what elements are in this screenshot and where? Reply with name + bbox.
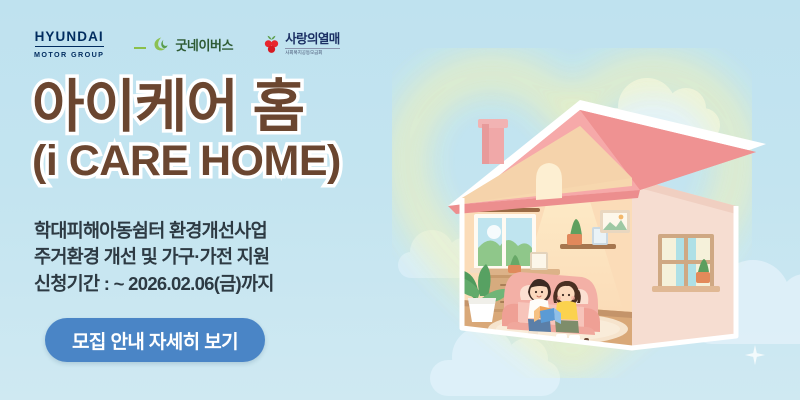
chimney-icon xyxy=(478,119,508,164)
promo-banner: HYUNDAI MOTOR GROUP 굿네이버스 사랑의열매 사회복지공동모금… xyxy=(0,0,800,400)
house-illustration xyxy=(418,86,766,378)
description-line-1: 학대피해아동쉼터 환경개선사업 xyxy=(34,218,274,244)
community-chest-subtext: 사회복지공동모금회 xyxy=(285,48,340,56)
logo-good-neighbors: 굿네이버스 xyxy=(134,35,233,54)
good-neighbors-wordmark: 굿네이버스 xyxy=(175,35,233,54)
description-line-2: 주거환경 개선 및 가구·가전 지원 xyxy=(34,244,274,270)
title-line-korean: 아이케어 홈 xyxy=(32,80,341,136)
page-title: 아이케어 홈 (i CARE HOME) xyxy=(32,80,341,182)
community-chest-wordmark: 사랑의열매 xyxy=(285,33,340,46)
title-line-english: (i CARE HOME) xyxy=(32,140,341,182)
leaf-ampersand-icon xyxy=(151,35,170,54)
logo-hyundai-motor-group: HYUNDAI MOTOR GROUP xyxy=(34,30,104,59)
hyundai-subtext: MOTOR GROUP xyxy=(34,50,104,59)
window-right-icon xyxy=(652,234,720,292)
logo-dash xyxy=(134,47,146,49)
red-fruit-berry-icon xyxy=(263,35,280,54)
picture-frame-icon xyxy=(600,210,630,233)
description-line-3: 신청기간 : ~ 2026.02.06(금)까지 xyxy=(34,271,274,297)
hyundai-wordmark: HYUNDAI xyxy=(35,30,104,47)
partner-logos: HYUNDAI MOTOR GROUP 굿네이버스 사랑의열매 사회복지공동모금… xyxy=(34,30,340,59)
description-block: 학대피해아동쉼터 환경개선사업 주거환경 개선 및 가구·가전 지원 신청기간 … xyxy=(34,218,274,297)
view-details-button[interactable]: 모집 안내 자세히 보기 xyxy=(45,318,265,362)
logo-community-chest: 사랑의열매 사회복지공동모금회 xyxy=(263,33,340,56)
